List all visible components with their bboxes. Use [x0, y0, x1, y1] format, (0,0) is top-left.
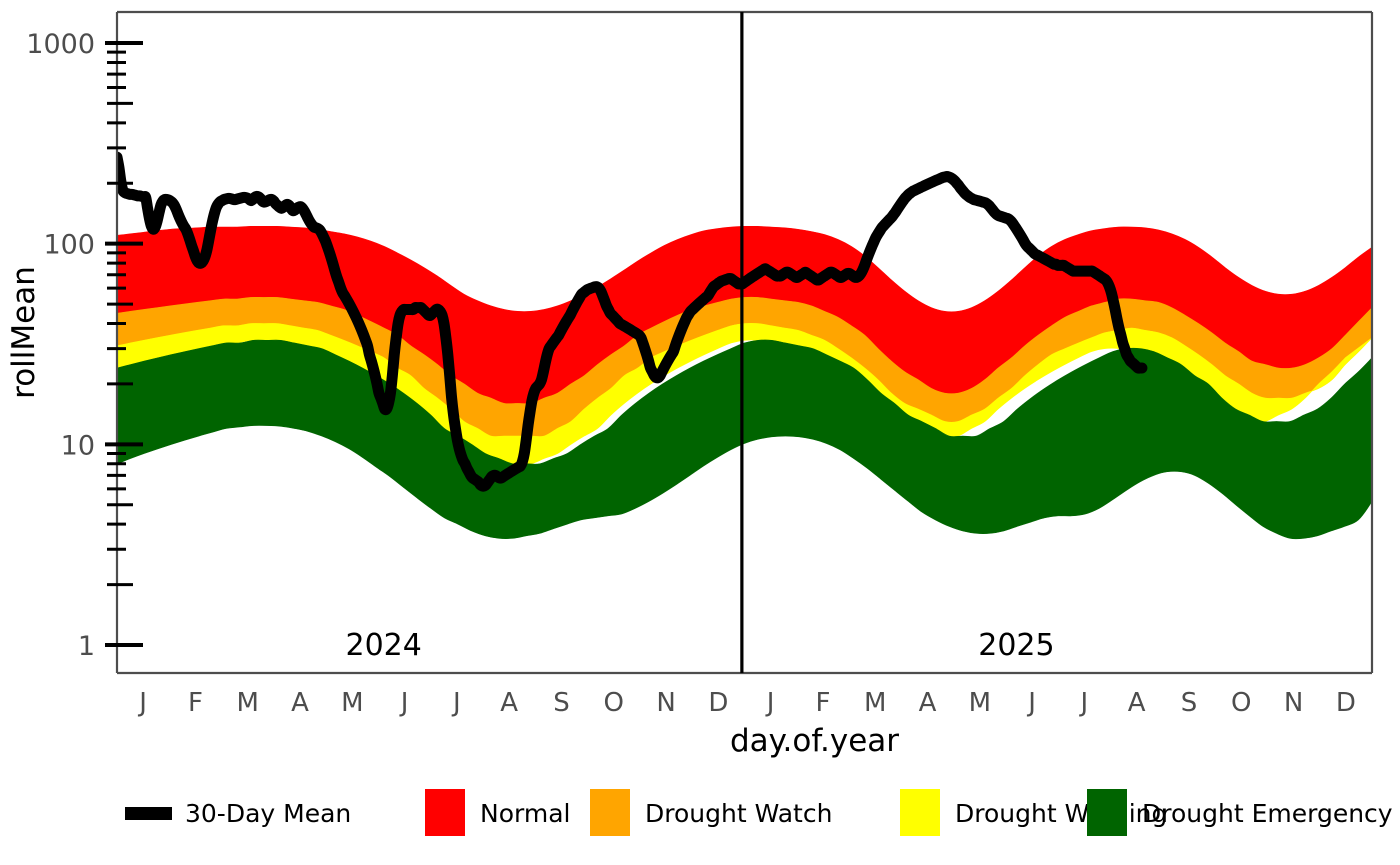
x-month-label-9: O: [604, 688, 624, 718]
y-axis-title: rollMean: [6, 266, 42, 399]
x-axis-title: day.of.year: [730, 723, 899, 759]
y-tick-label-100: 100: [43, 230, 95, 261]
y-tick-label-10: 10: [61, 430, 95, 461]
x-month-label-4: M: [341, 688, 363, 718]
chart-root: 1000100101rollMeanJFMAMJJASONDJFMAMJJASO…: [0, 0, 1400, 865]
y-tick-label-1000: 1000: [26, 29, 95, 60]
legend-swatch-drought-watch: [590, 789, 630, 836]
x-month-label-16: M: [969, 688, 991, 718]
x-month-label-3: A: [291, 688, 309, 718]
legend-label-normal: Normal: [480, 799, 570, 828]
x-month-label-12: J: [765, 688, 775, 718]
drought-status-chart: 1000100101rollMeanJFMAMJJASONDJFMAMJJASO…: [0, 0, 1400, 865]
x-month-label-8: S: [553, 688, 570, 718]
x-month-label-6: J: [451, 688, 461, 718]
legend-swatch-drought-warning: [900, 789, 940, 836]
x-month-label-7: A: [500, 688, 518, 718]
year-label-2024: 2024: [346, 628, 422, 663]
legend-label-drought-emergency: Drought Emergency: [1142, 799, 1393, 828]
legend-layer: 30-Day MeanNormalDrought WatchDrought Wa…: [125, 789, 1393, 836]
x-month-label-20: S: [1181, 688, 1198, 718]
legend-marker-30-day-mean: [125, 807, 172, 820]
legend-swatch-drought-emergency: [1087, 789, 1127, 836]
x-month-label-13: F: [815, 688, 830, 718]
x-month-label-17: J: [1026, 688, 1036, 718]
legend-label-30-day-mean: 30-Day Mean: [185, 799, 351, 828]
legend-label-drought-watch: Drought Watch: [645, 799, 832, 828]
x-month-label-0: J: [137, 688, 147, 718]
x-month-label-2: M: [237, 688, 259, 718]
x-month-label-19: A: [1128, 688, 1146, 718]
legend-label-drought-warning: Drought Warning: [955, 799, 1167, 828]
x-month-label-21: O: [1231, 688, 1251, 718]
legend-swatch-normal: [425, 789, 465, 836]
x-month-label-22: N: [1284, 688, 1303, 718]
x-month-label-14: M: [864, 688, 886, 718]
x-month-label-11: D: [708, 688, 728, 718]
x-month-label-15: A: [919, 688, 937, 718]
x-month-label-1: F: [188, 688, 203, 718]
x-month-label-5: J: [399, 688, 409, 718]
x-month-label-10: N: [656, 688, 675, 718]
y-tick-label-1: 1: [78, 631, 95, 662]
x-month-label-23: D: [1336, 688, 1356, 718]
year-label-2025: 2025: [978, 628, 1054, 663]
x-month-label-18: J: [1079, 688, 1089, 718]
